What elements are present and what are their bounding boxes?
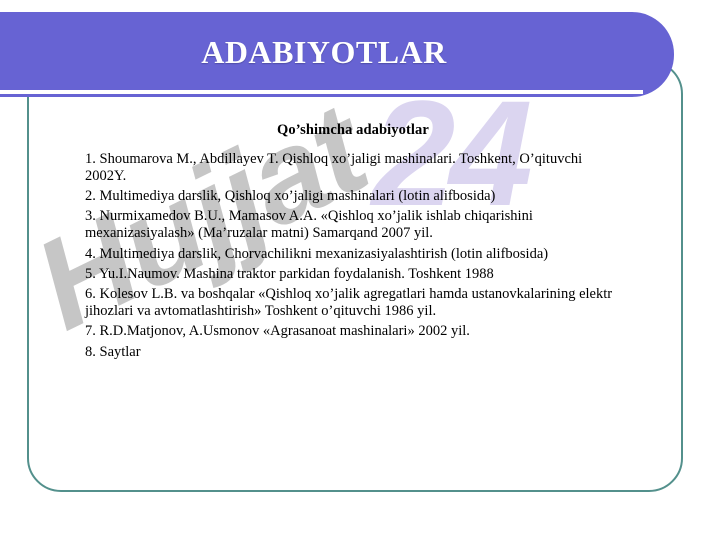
list-item: 8. Saytlar bbox=[85, 344, 621, 361]
section-subtitle: Qo’shimcha adabiyotlar bbox=[85, 122, 621, 139]
list-item: 6. Kolesov L.B. va boshqalar «Qishloq xo… bbox=[85, 286, 621, 320]
reference-list: 1. Shoumarova M., Abdillayev T. Qishloq … bbox=[85, 151, 621, 360]
list-item: 7. R.D.Matjonov, A.Usmonov «Agrasanoat m… bbox=[85, 323, 621, 340]
list-item: 2. Multimediya darslik, Qishloq xo’jalig… bbox=[85, 188, 621, 205]
title-banner: ADABIYOTLAR bbox=[0, 12, 674, 97]
page-title: ADABIYOTLAR bbox=[0, 34, 674, 71]
list-item: 5. Yu.I.Naumov. Mashina traktor parkidan… bbox=[85, 266, 621, 283]
slide-canvas: 24 Hujjat ADABIYOTLAR Qo’shimcha adabiyo… bbox=[0, 0, 720, 540]
list-item: 3. Nurmixamedov B.U., Mamasov A.A. «Qish… bbox=[85, 208, 621, 242]
list-item: 4. Multimediya darslik, Chorvachilikni m… bbox=[85, 246, 621, 263]
slide-content: Qo’shimcha adabiyotlar 1. Shoumarova M.,… bbox=[85, 122, 621, 364]
list-item: 1. Shoumarova M., Abdillayev T. Qishloq … bbox=[85, 151, 621, 185]
banner-divider bbox=[0, 90, 643, 94]
